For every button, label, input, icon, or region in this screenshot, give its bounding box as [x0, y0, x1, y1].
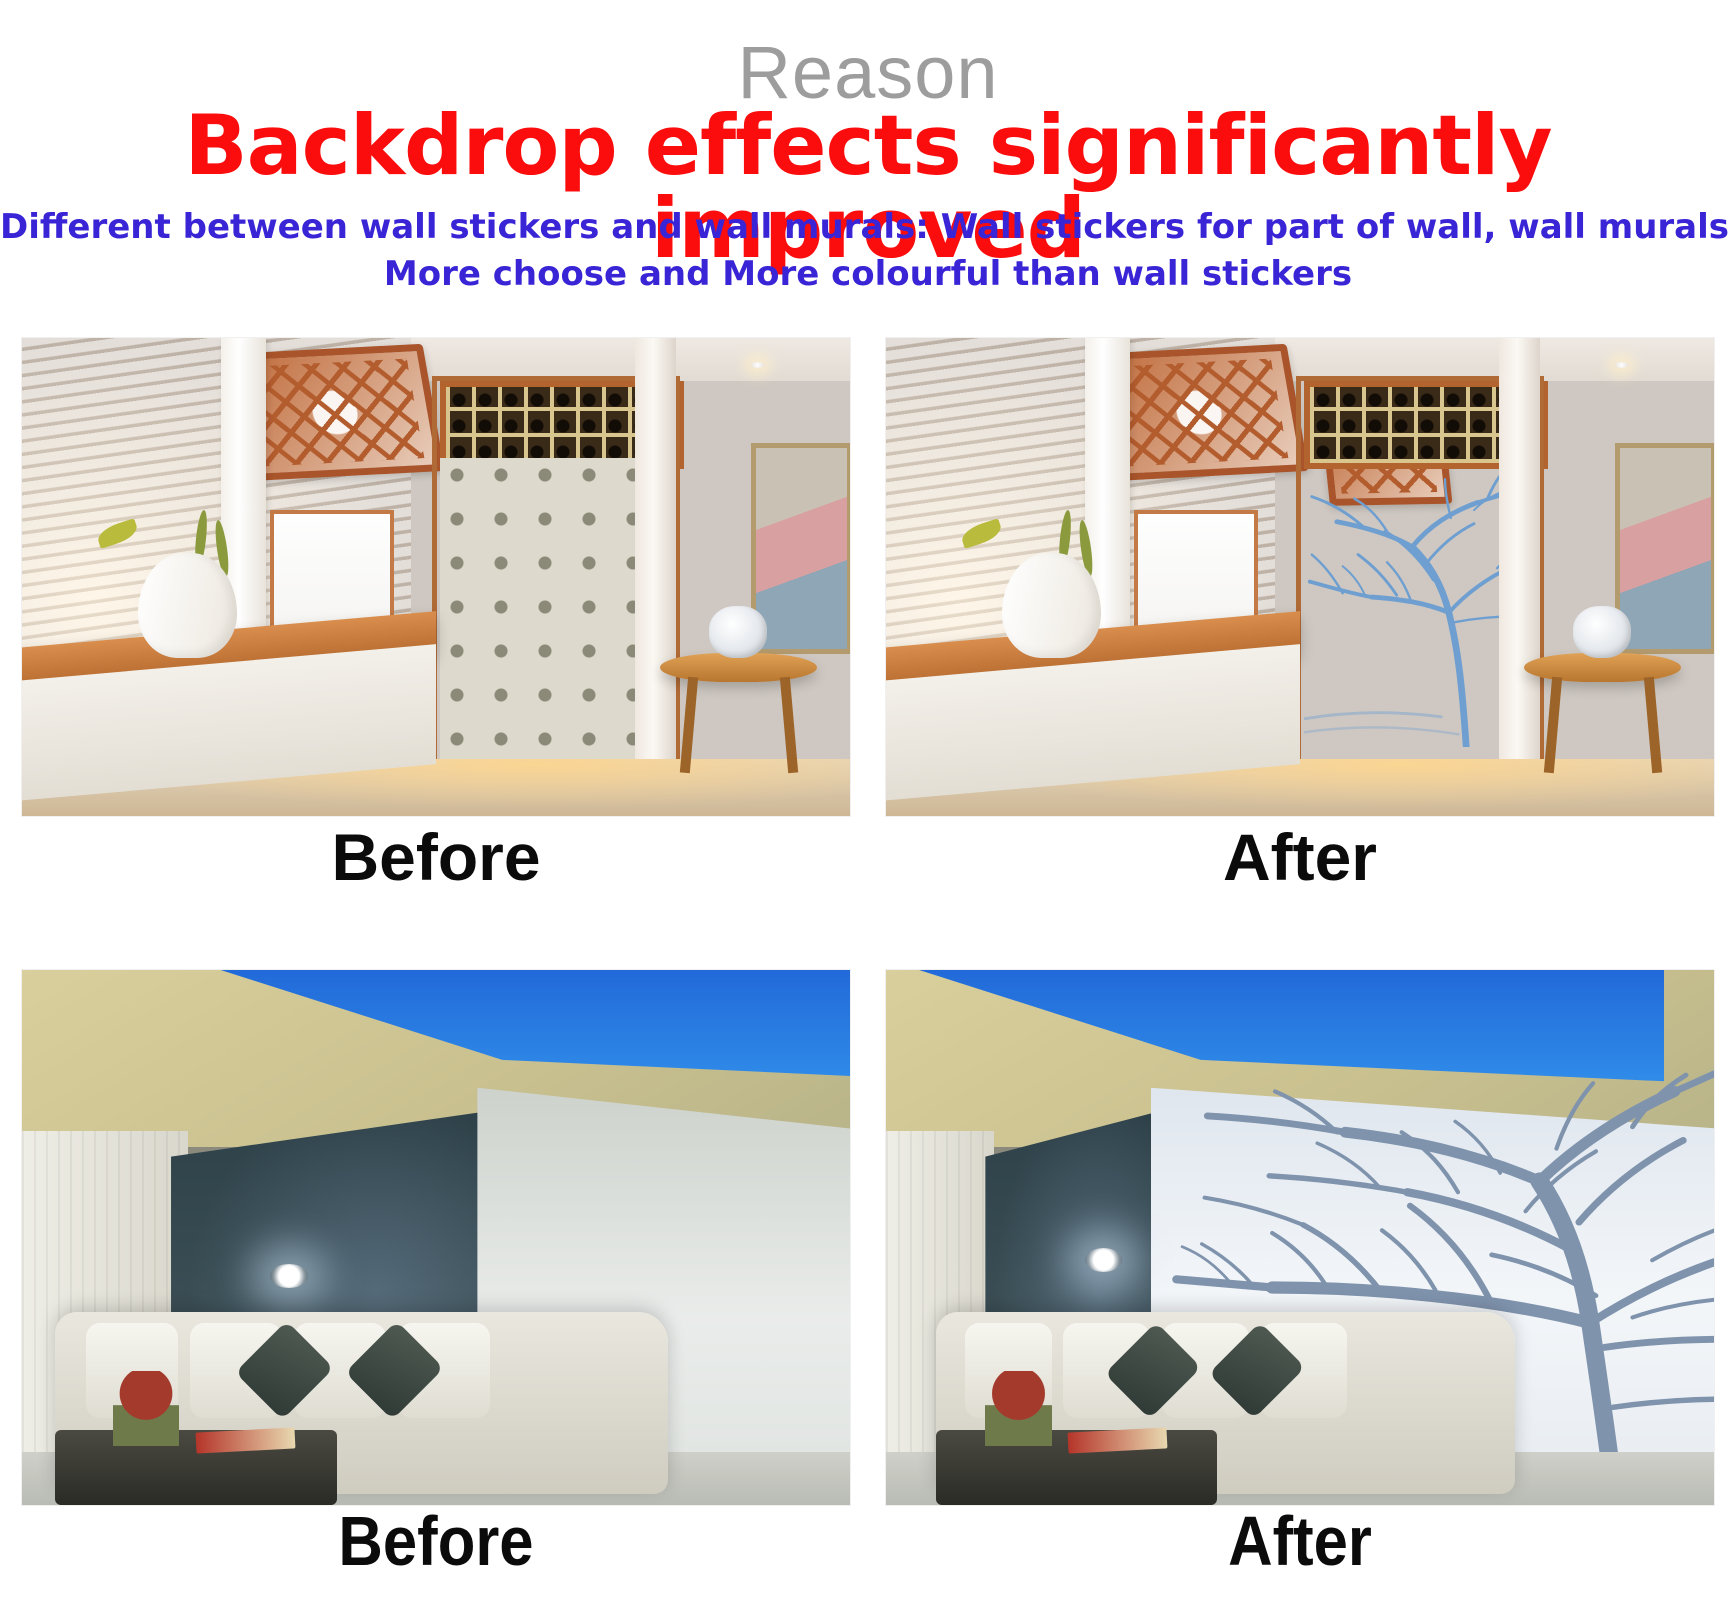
photo-before-hallway	[22, 338, 850, 816]
panel-top-right: After	[886, 338, 1714, 816]
ceiling-spotlight-icon	[751, 362, 764, 368]
white-vase	[1002, 553, 1101, 658]
panel-bottom-left: Before	[22, 970, 850, 1505]
panel-top-left: Before	[22, 338, 850, 816]
flower-vase	[113, 1371, 179, 1446]
caption-after-bottom: After	[936, 1506, 1665, 1576]
wall-lamp	[270, 1264, 307, 1288]
photo-after-hallway	[886, 338, 1714, 816]
decorative-vase	[709, 606, 767, 659]
product-infographic: Reason Backdrop effects significantly im…	[0, 0, 1736, 1600]
decorative-vase	[1573, 606, 1631, 659]
wall-pillar	[635, 338, 676, 816]
flower-vase	[985, 1371, 1051, 1446]
comparison-grid: Before	[0, 0, 1736, 1600]
white-vase	[138, 553, 237, 658]
caption-before-bottom: Before	[72, 1506, 801, 1576]
wall-pillar	[1499, 338, 1540, 816]
caption-after-top: After	[886, 824, 1714, 890]
photo-after-lounge	[886, 970, 1714, 1505]
caption-before-top: Before	[22, 824, 850, 890]
ceiling-spotlight-icon	[1615, 362, 1628, 368]
photo-before-lounge	[22, 970, 850, 1505]
panel-bottom-right: After	[886, 970, 1714, 1505]
